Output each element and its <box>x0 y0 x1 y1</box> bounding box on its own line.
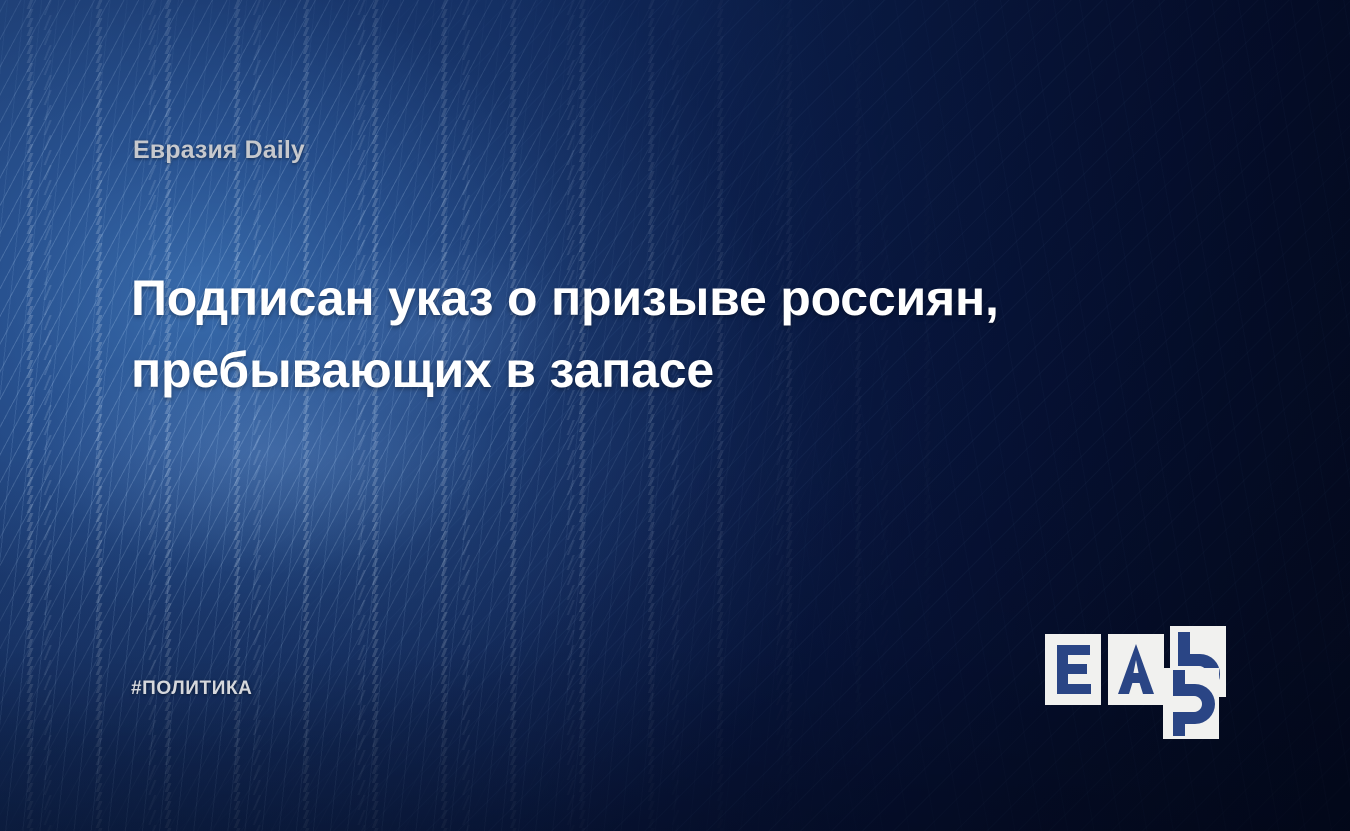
share-card: Евразия Daily Подписан указ о призыве ро… <box>0 0 1350 831</box>
card-content: Евразия Daily Подписан указ о призыве ро… <box>0 0 1350 831</box>
headline-line-2: пребывающих в запасе <box>131 334 1131 406</box>
logo-tile-a <box>1108 634 1164 705</box>
headline-line-1: Подписан указ о призыве россиян, <box>131 262 1131 334</box>
logo-tile-d-lower <box>1163 668 1219 739</box>
category-tag: #ПОЛИТИКА <box>131 678 253 700</box>
letter-d-glyph-lower <box>1163 668 1219 739</box>
letter-a-glyph <box>1108 634 1164 705</box>
letter-e-glyph <box>1045 634 1101 705</box>
brand-wordmark: Евразия Daily <box>133 136 305 165</box>
logo-tile-e <box>1045 634 1101 705</box>
eadaily-logo <box>1043 612 1233 720</box>
page-title: Подписан указ о призыве россиян, пребыва… <box>131 262 1131 406</box>
